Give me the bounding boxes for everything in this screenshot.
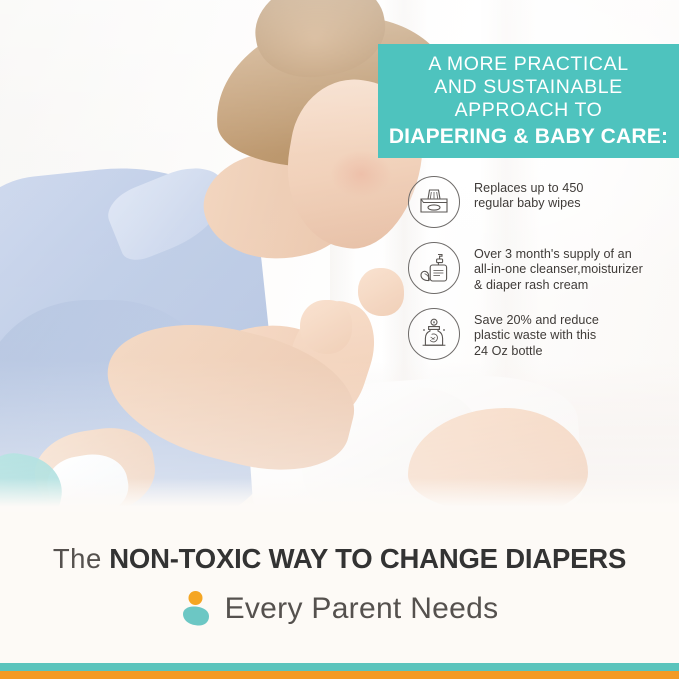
brand-tagline: Every Parent Needs (225, 592, 499, 626)
photo-bottom-fade (0, 478, 679, 512)
brand-logo-icon (181, 590, 215, 628)
banner-line-3: APPROACH TO (455, 99, 603, 122)
product-ad-image: A MORE PRACTICAL AND SUSTAINABLE APPROAC… (0, 0, 679, 679)
baby-fist-left (300, 300, 352, 354)
feature-item: Save 20% and reduce plastic waste with t… (408, 308, 679, 360)
feature-text-line: Save 20% and reduce (474, 313, 599, 328)
baby-fist-right (358, 268, 404, 316)
feature-text-line: Over 3 month's supply of an (474, 247, 643, 262)
bottom-headline: The NON-TOXIC WAY TO CHANGE DIAPERS (53, 542, 626, 576)
feature-text-line: plastic waste with this (474, 328, 599, 343)
feature-text-line: regular baby wipes (474, 196, 583, 211)
feature-text: Over 3 month's supply of an all-in-one c… (474, 242, 643, 293)
headline-banner: A MORE PRACTICAL AND SUSTAINABLE APPROAC… (378, 44, 679, 158)
feature-item: Over 3 month's supply of an all-in-one c… (408, 242, 679, 294)
bottom-stripe-teal (0, 663, 679, 671)
pump-bottle-icon (408, 242, 460, 294)
banner-line-2: AND SUSTAINABLE (434, 76, 623, 99)
banner-emphasis-line: DIAPERING & BABY CARE: (389, 125, 668, 148)
banner-line-1: A MORE PRACTICAL (428, 53, 628, 76)
feature-text-line: Replaces up to 450 (474, 181, 583, 196)
feature-item: Replaces up to 450 regular baby wipes (408, 176, 679, 228)
feature-text: Save 20% and reduce plastic waste with t… (474, 308, 599, 359)
headline-light-word: The (53, 543, 102, 574)
bottom-stripe-orange (0, 671, 679, 679)
wipes-box-icon (408, 176, 460, 228)
feature-list: Replaces up to 450 regular baby wipes (408, 176, 679, 374)
feature-text-line: all-in-one cleanser,moisturizer (474, 262, 643, 277)
feature-text-line: 24 Oz bottle (474, 344, 599, 359)
bottom-text-area: The NON-TOXIC WAY TO CHANGE DIAPERS Ever… (0, 512, 679, 663)
savings-jar-icon (408, 308, 460, 360)
feature-text: Replaces up to 450 regular baby wipes (474, 176, 583, 212)
headline-bold-phrase: NON-TOXIC WAY TO CHANGE DIAPERS (109, 543, 626, 574)
feature-text-line: & diaper rash cream (474, 278, 643, 293)
brand-tagline-row: Every Parent Needs (181, 590, 499, 628)
